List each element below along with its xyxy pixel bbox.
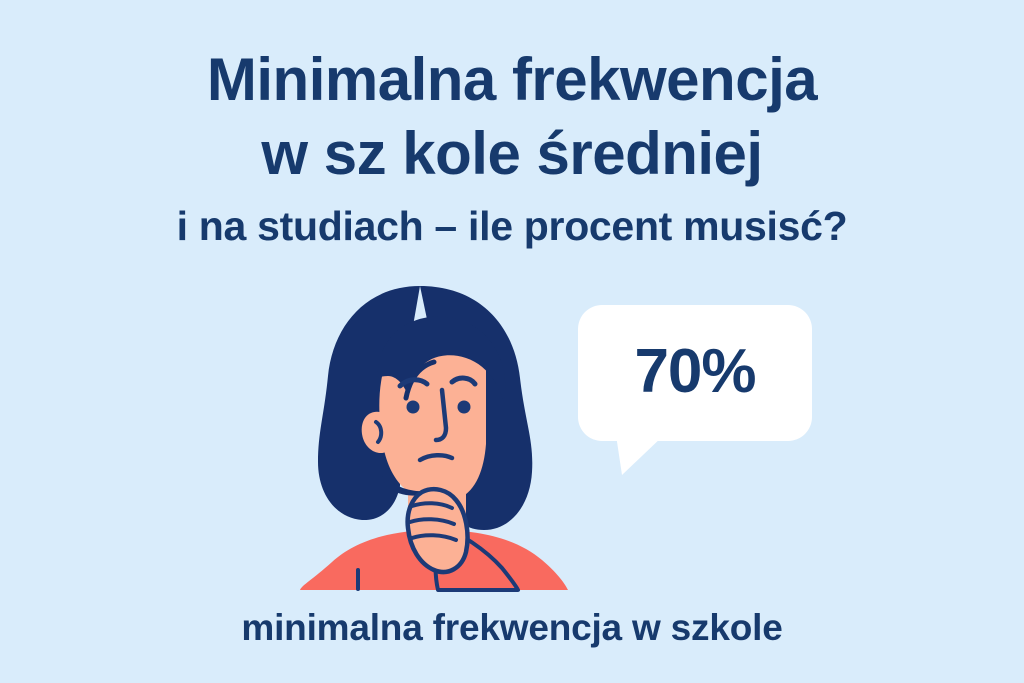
thinking-woman-svg — [270, 280, 590, 595]
bubble-percentage-value: 70% — [578, 305, 812, 441]
thinking-woman-illustration — [270, 280, 590, 595]
speech-bubble: 70% — [578, 305, 812, 441]
page-title: Minimalna frekwencja w sz kole średniej … — [0, 48, 1024, 249]
eye-left — [407, 401, 420, 414]
title-line-1: Minimalna frekwencja — [0, 48, 1024, 112]
infographic-canvas: Minimalna frekwencja w sz kole średniej … — [0, 0, 1024, 683]
eye-right — [458, 401, 471, 414]
title-line-2: w sz kole średniej — [0, 122, 1024, 186]
title-subtitle: i na studiach – ile procent musisć? — [0, 205, 1024, 248]
speech-bubble-tail — [614, 435, 664, 477]
bottom-caption: minimalna frekwencja w szkole — [0, 607, 1024, 649]
